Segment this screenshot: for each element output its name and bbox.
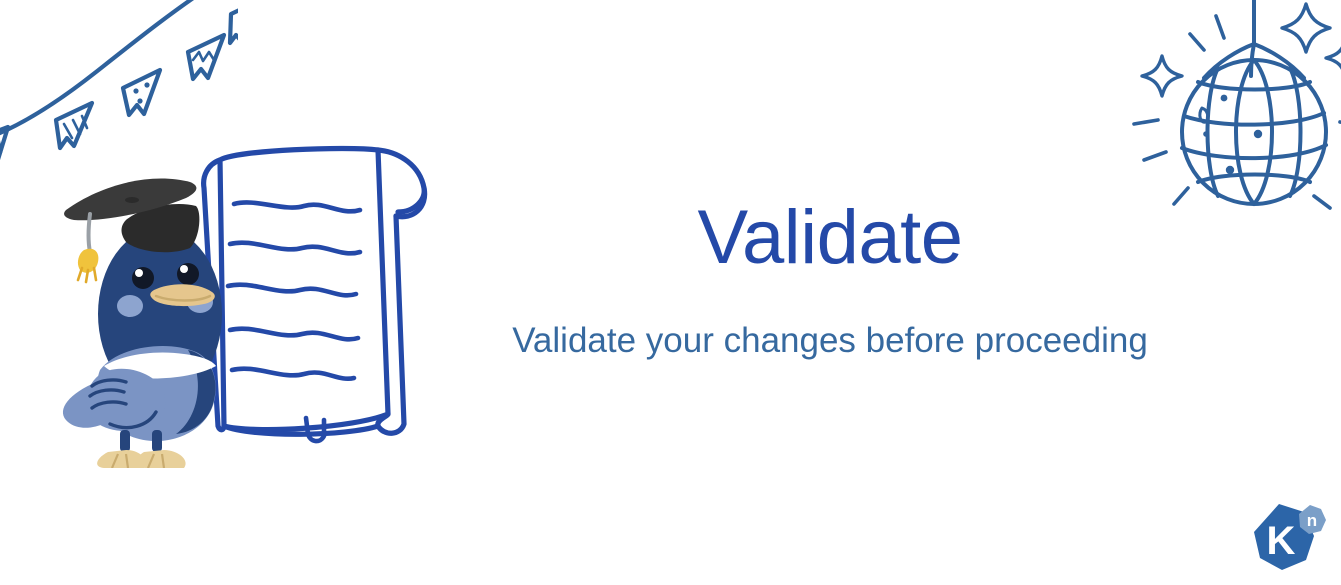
slide-canvas: Validate Validate your changes before pr… bbox=[0, 0, 1341, 585]
disco-ball bbox=[1118, 0, 1341, 232]
bird-mascot bbox=[63, 178, 222, 468]
logo-letter-k: K bbox=[1267, 519, 1296, 563]
brand-logo[interactable]: K n bbox=[1248, 500, 1330, 578]
hero-text-block: Validate Validate your changes before pr… bbox=[470, 200, 1190, 361]
diploma-scroll bbox=[204, 148, 425, 441]
logo-letter-n: n bbox=[1307, 511, 1317, 530]
page-title: Validate bbox=[470, 200, 1190, 276]
page-subtitle: Validate your changes before proceeding bbox=[470, 322, 1190, 361]
graduate-bird-with-diploma-scroll bbox=[48, 138, 468, 468]
